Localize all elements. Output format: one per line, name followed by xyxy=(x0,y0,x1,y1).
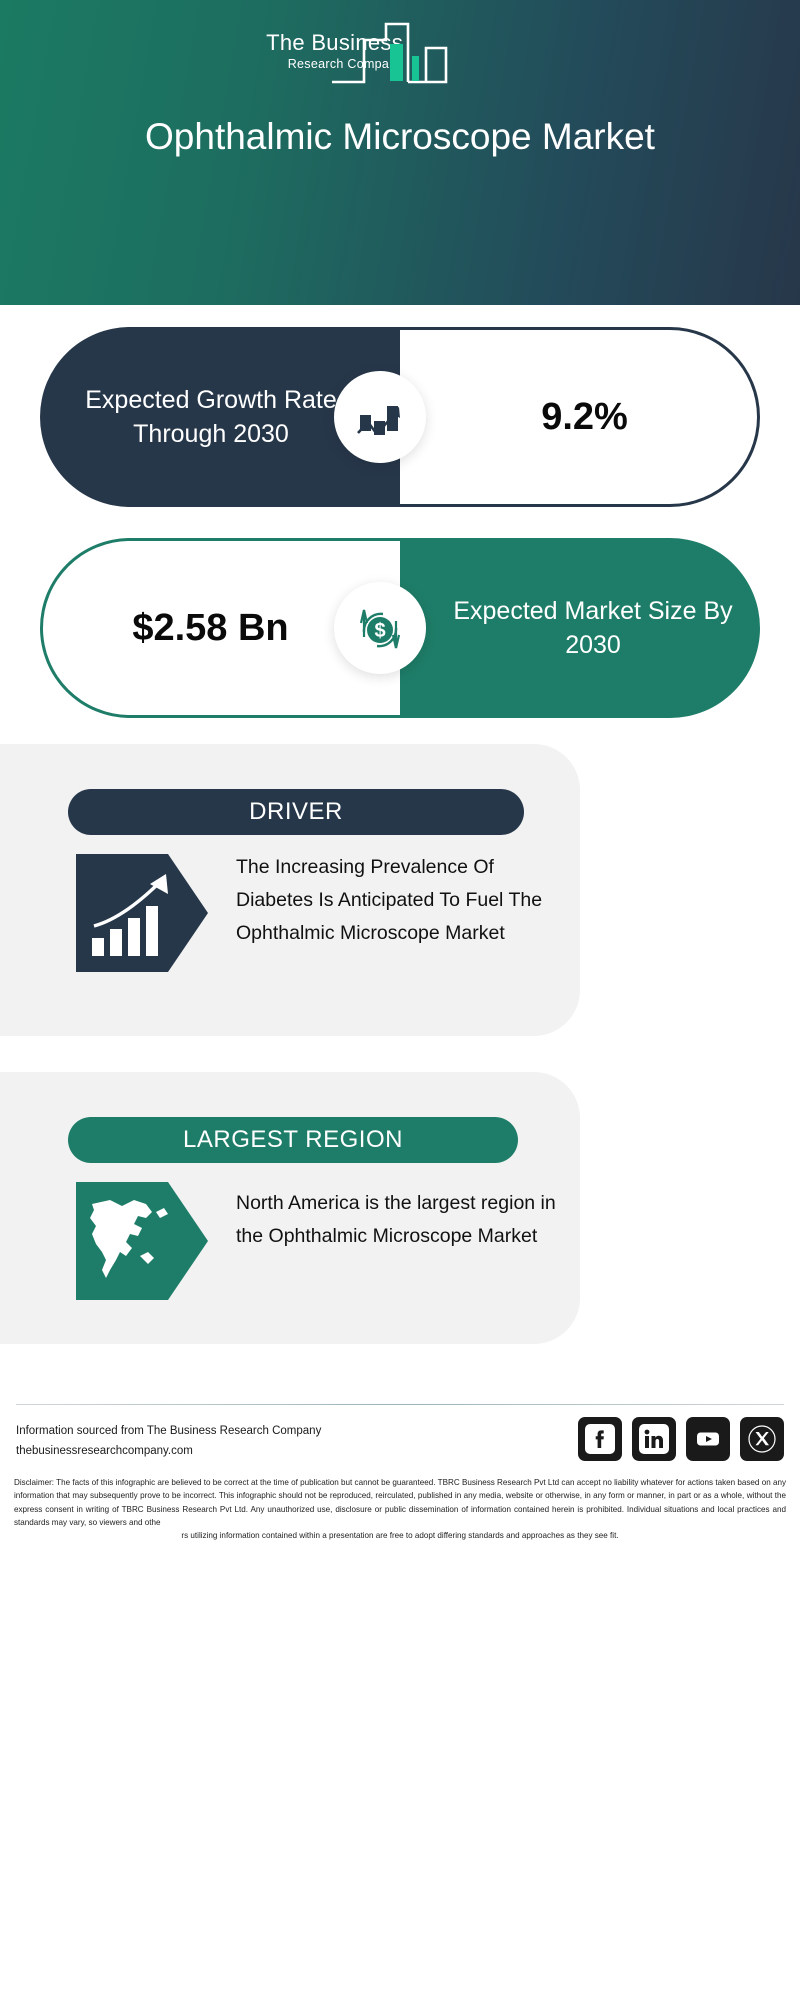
driver-text: The Increasing Prevalence Of Diabetes Is… xyxy=(236,851,558,950)
bar-chart-logo-icon xyxy=(330,20,450,91)
stat-card-market-size: $2.58 Bn Expected Market Size By 2030 $ xyxy=(40,538,760,718)
company-logo: The Business Research Company xyxy=(225,22,505,88)
stat-value-panel: 9.2% xyxy=(400,327,760,507)
disclaimer-last-line: rs utilizing information contained withi… xyxy=(14,1529,786,1542)
linkedin-icon[interactable] xyxy=(632,1417,676,1461)
north-america-map-icon xyxy=(76,1182,208,1300)
disclaimer: Disclaimer: The facts of this infographi… xyxy=(14,1476,786,1542)
largest-region-pill: LARGEST REGION xyxy=(68,1117,518,1163)
stat-value-text: 9.2% xyxy=(400,330,757,504)
largest-region-pill-label: LARGEST REGION xyxy=(183,1126,403,1154)
growth-bars-arrow-icon xyxy=(76,854,208,972)
stat-card-growth-rate: Expected Growth Rate Through 2030 9.2% xyxy=(40,327,760,507)
svg-text:$: $ xyxy=(374,620,385,642)
x-twitter-icon[interactable] xyxy=(740,1417,784,1461)
dollar-circular-arrows-icon: $ xyxy=(334,582,426,674)
driver-panel: DRIVER The Increasing Prevalence Of Diab… xyxy=(0,744,580,1036)
driver-pill: DRIVER xyxy=(68,789,524,835)
youtube-icon[interactable] xyxy=(686,1417,730,1461)
disclaimer-main: Disclaimer: The facts of this infographi… xyxy=(14,1478,786,1527)
hero-banner: The Business Research Company Ophthalmic… xyxy=(0,0,800,305)
footer-divider xyxy=(16,1404,784,1405)
largest-region-text: North America is the largest region in t… xyxy=(236,1187,558,1253)
social-links xyxy=(508,1416,784,1462)
largest-region-panel: LARGEST REGION North America is the larg… xyxy=(0,1072,580,1344)
facebook-icon[interactable] xyxy=(578,1417,622,1461)
driver-pill-label: DRIVER xyxy=(249,798,343,826)
source-info: Information sourced from The Business Re… xyxy=(16,1421,476,1461)
page-title: Ophthalmic Microscope Market xyxy=(60,112,740,161)
source-line-1: Information sourced from The Business Re… xyxy=(16,1421,476,1441)
growth-bar-chart-arrow-icon xyxy=(334,371,426,463)
stat-label-panel: Expected Market Size By 2030 xyxy=(400,538,760,718)
stat-label-text: Expected Market Size By 2030 xyxy=(400,538,760,718)
source-line-2[interactable]: thebusinessresearchcompany.com xyxy=(16,1441,476,1461)
